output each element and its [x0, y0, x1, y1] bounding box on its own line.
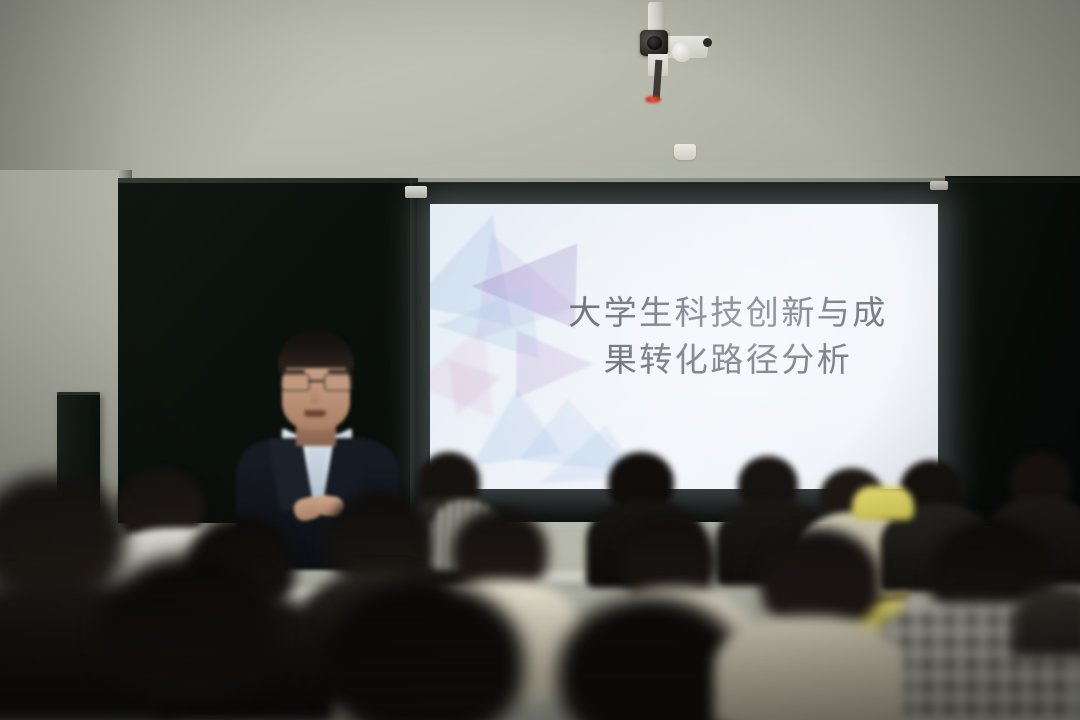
camera-screw	[703, 38, 712, 47]
glasses-lens-left	[281, 374, 310, 391]
student-head-foreground	[100, 554, 276, 704]
glasses-icon	[280, 374, 352, 389]
glasses-lens-right	[324, 374, 353, 391]
ceiling-sensor	[674, 144, 696, 160]
student-beige-jacket-foreground	[714, 616, 904, 720]
projection-screen: 大学生科技创新与成 果转化路径分析	[430, 204, 938, 489]
lecturer-eyebrow-right	[328, 370, 350, 373]
lecturer-mouth	[304, 410, 326, 417]
screen-mount-clip-right	[930, 181, 948, 190]
camera-knob	[672, 42, 692, 62]
lecture-hall-photo: 大学生科技创新与成 果转化路径分析	[0, 0, 1080, 720]
blackboard-divider	[410, 180, 417, 524]
lecturer-fringe	[278, 344, 354, 368]
student-yellow-cap	[852, 486, 914, 520]
lecturer-eyebrow-left	[283, 370, 305, 373]
slide-title: 大学生科技创新与成 果转化路径分析	[528, 290, 928, 384]
camera-lens-icon	[647, 36, 662, 50]
glasses-bridge	[308, 380, 324, 382]
lecturer-nose	[311, 388, 320, 404]
screen-mount-clip-left	[405, 186, 427, 198]
camera-recording-led	[645, 96, 661, 103]
